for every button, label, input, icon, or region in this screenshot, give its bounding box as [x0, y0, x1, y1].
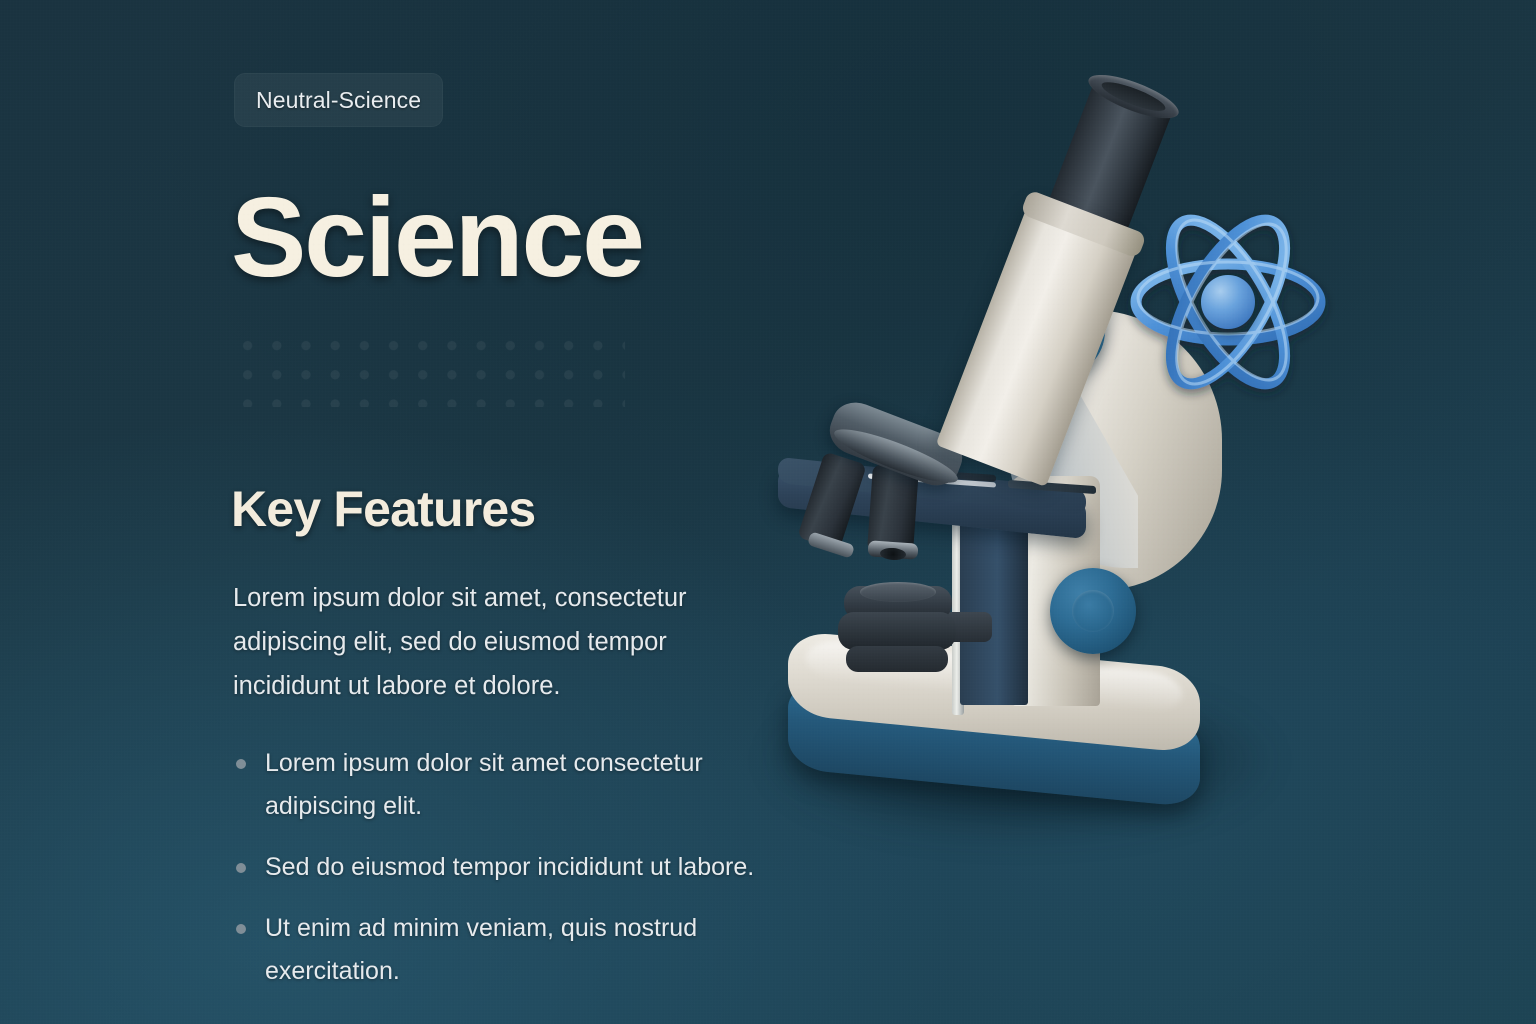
condenser-mid — [838, 612, 956, 650]
microscope-illustration — [760, 60, 1400, 860]
category-badge[interactable]: Neutral-Science — [234, 73, 443, 127]
list-item-label: Ut enim ad minim veniam, quis nostrud ex… — [265, 914, 697, 985]
page-title: Science — [231, 181, 643, 294]
category-badge-label: Neutral-Science — [256, 87, 421, 114]
condenser-lower — [846, 646, 948, 672]
fine-focus-knob-face — [1072, 590, 1114, 632]
slide-canvas: Neutral-Science Science Key Features Lor… — [0, 0, 1536, 1024]
atom-icon — [1118, 192, 1338, 412]
dot-grid-decoration — [233, 331, 625, 407]
stage-support — [960, 515, 1028, 705]
bullet-dot-icon — [236, 759, 246, 769]
list-item: Ut enim ad minim veniam, quis nostrud ex… — [233, 907, 803, 993]
content-column: Neutral-Science Science Key Features Lor… — [0, 0, 820, 1024]
key-features-paragraph: Lorem ipsum dolor sit amet, consectetur … — [233, 576, 763, 708]
bullet-dot-icon — [236, 924, 246, 934]
bullet-dot-icon — [236, 863, 246, 873]
condenser-ring — [860, 582, 936, 602]
list-item: Sed do eiusmod tempor incididunt ut labo… — [233, 846, 803, 889]
list-item: Lorem ipsum dolor sit amet consectetur a… — [233, 742, 803, 828]
list-item-label: Lorem ipsum dolor sit amet consectetur a… — [265, 749, 703, 820]
atom-nucleus — [1201, 275, 1255, 329]
key-features-list: Lorem ipsum dolor sit amet consectetur a… — [233, 742, 803, 1011]
key-features-heading: Key Features — [231, 484, 535, 534]
list-item-label: Sed do eiusmod tempor incididunt ut labo… — [265, 853, 754, 881]
